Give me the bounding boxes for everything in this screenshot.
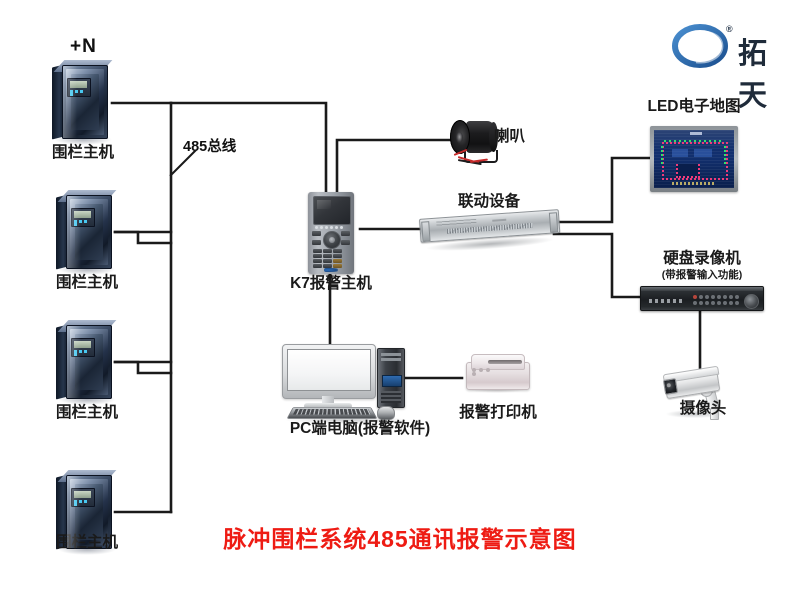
horn-label: 喇叭 — [494, 128, 564, 146]
panel-print — [492, 219, 506, 222]
led-indicators — [74, 500, 92, 503]
k7-numeric-keypad[interactable] — [313, 249, 349, 268]
k7-status-leds — [315, 226, 347, 229]
drive-bay — [381, 358, 401, 361]
k7-alarm-host-label: K7报警主机 — [268, 275, 394, 293]
desktop-computer-icon[interactable] — [282, 342, 422, 422]
k7-soft-button[interactable] — [341, 240, 350, 245]
dvr-chassis — [640, 286, 764, 311]
tower-front-display — [382, 375, 402, 387]
zone-leds — [664, 140, 722, 142]
monitor-bezel — [282, 344, 376, 399]
k7-soft-button[interactable] — [312, 240, 321, 245]
panel-frame — [650, 126, 738, 192]
keyboard[interactable] — [286, 407, 377, 419]
paper-slot — [488, 360, 522, 364]
control-panel — [67, 78, 91, 97]
case-front — [62, 65, 108, 139]
swirl-logo-icon — [672, 24, 734, 68]
led-map-panel-icon[interactable] — [650, 126, 738, 192]
camera-lens — [663, 378, 678, 395]
dvr-front-print — [649, 299, 683, 303]
keypad-alarm-host-icon[interactable] — [308, 192, 354, 274]
lcd-display — [70, 81, 87, 88]
control-panel — [71, 338, 95, 357]
brand-logo: ® 拓天 — [672, 24, 792, 70]
receipt-printer-icon[interactable] — [466, 352, 528, 394]
horn-barrel — [466, 121, 495, 153]
led-map-label: LED电子地图 — [628, 98, 760, 116]
fence-host-icon[interactable] — [52, 60, 114, 146]
k7-brand-mark — [324, 268, 338, 272]
control-panel — [71, 488, 95, 507]
dvr-label-sub: (带报警输入功能) — [638, 269, 766, 281]
k7-display — [313, 196, 351, 225]
dvr-label: 硬盘录像机 (带报警输入功能) — [638, 250, 766, 281]
bus-leader-line — [166, 146, 208, 180]
linkage-device-label: 联动设备 — [426, 193, 552, 211]
pc-tower[interactable] — [377, 348, 405, 408]
monitor — [282, 344, 374, 404]
k7-soft-button[interactable] — [312, 231, 321, 236]
lcd-display — [74, 211, 91, 218]
fence-host-icon[interactable] — [56, 190, 118, 276]
zone-outline — [676, 164, 700, 178]
rack-ear-left — [421, 221, 430, 242]
led-indicators — [74, 220, 92, 223]
camera-label: 摄像头 — [648, 400, 758, 418]
dvr-jog-dial[interactable] — [744, 294, 759, 309]
screen-footer-text — [672, 182, 716, 185]
drive-bay — [381, 353, 401, 356]
case-front — [66, 195, 112, 269]
dvr-label-main: 硬盘录像机 — [663, 250, 741, 267]
horn-wires — [452, 150, 492, 166]
zone-leds — [724, 146, 726, 164]
lcd-display — [74, 341, 91, 348]
zone-leds — [661, 146, 663, 164]
fence-host-3-label: 围栏主机 — [24, 404, 150, 422]
dvr-top-edge — [641, 287, 763, 291]
control-panel — [71, 208, 95, 227]
fence-host-1-label: 围栏主机 — [20, 144, 146, 162]
k7-soft-button[interactable] — [341, 231, 350, 236]
k7-navigation-dpad[interactable] — [323, 231, 341, 249]
dvr-icon[interactable] — [640, 286, 762, 312]
tower-vent — [381, 391, 401, 403]
panel-screen — [654, 130, 734, 188]
printer-buttons[interactable] — [472, 368, 498, 372]
fence-host-icon[interactable] — [56, 320, 118, 406]
mouse[interactable] — [377, 406, 395, 420]
pc-label: PC端电脑(报警软件) — [250, 420, 470, 438]
lcd-display — [74, 491, 91, 498]
led-indicators — [70, 90, 88, 93]
diagram-title: 脉冲围栏系统485通讯报警示意图 — [0, 520, 800, 554]
rack-ear-right — [549, 212, 558, 233]
fence-host-2-label: 围栏主机 — [24, 274, 150, 292]
led-indicators — [74, 350, 92, 353]
trademark-symbol: ® — [726, 24, 733, 34]
screen-title-text — [690, 132, 702, 135]
dvr-buttons[interactable] — [693, 295, 741, 307]
panel-print — [436, 219, 476, 227]
plus-n-label: +N — [70, 36, 97, 58]
case-front — [66, 325, 112, 399]
diagram-canvas: ® 拓天 +N 485总线 围栏主机 围栏主机 — [0, 0, 800, 600]
printer-label: 报警打印机 — [436, 404, 560, 422]
monitor-screen — [287, 349, 371, 391]
